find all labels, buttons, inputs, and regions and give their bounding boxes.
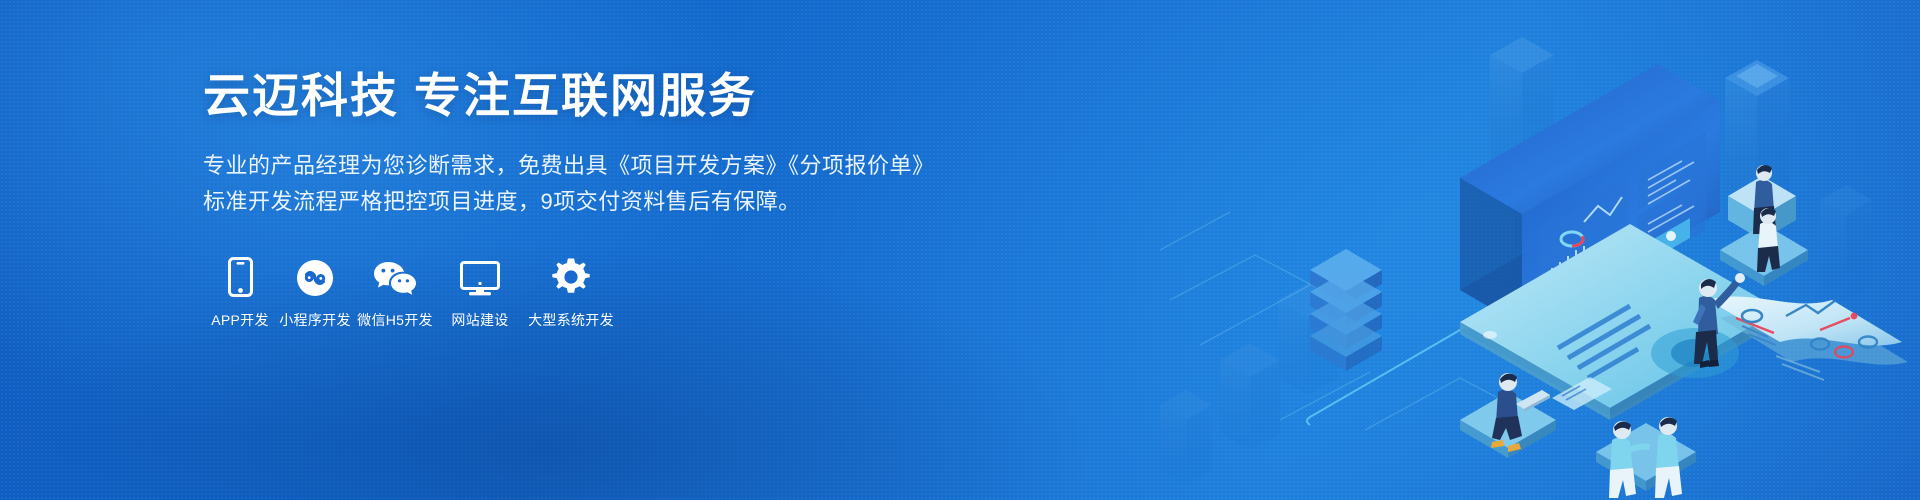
service-label: 大型系统开发 [528,310,614,330]
monitor-icon [460,253,500,297]
banner-subtitle-line-2: 标准开发流程严格把控项目进度，9项交付资料售后有保障。 [203,185,923,219]
service-item-large-system[interactable]: 大型系统开发 [523,253,619,330]
mini-program-icon [296,253,334,297]
server-stack [1310,249,1382,371]
wechat-icon [373,253,417,297]
service-label: 微信H5开发 [357,310,433,330]
service-item-miniprogram[interactable]: 小程序开发 [278,253,352,330]
service-item-app[interactable]: APP开发 [203,253,277,330]
page-title: 云迈科技 专注互联网服务 [203,68,923,123]
service-label: 网站建设 [451,310,508,330]
service-label: 小程序开发 [279,310,351,330]
service-item-website[interactable]: 网站建设 [438,253,522,330]
gear-icon [551,253,591,297]
service-icon-list: APP开发 小程序开发 [203,253,923,330]
isometric-illustration [1160,0,1920,500]
hero-banner: 云迈科技 专注互联网服务 专业的产品经理为您诊断需求，免费出具《项目开发方案》《… [0,0,1920,500]
service-item-wechat-h5[interactable]: 微信H5开发 [353,253,437,330]
mobile-phone-icon [228,253,253,297]
banner-content: 云迈科技 专注互联网服务 专业的产品经理为您诊断需求，免费出具《项目开发方案》《… [203,68,923,330]
service-label: APP开发 [211,310,269,330]
banner-subtitle-line-1: 专业的产品经理为您诊断需求，免费出具《项目开发方案》《分项报价单》 [203,149,923,183]
